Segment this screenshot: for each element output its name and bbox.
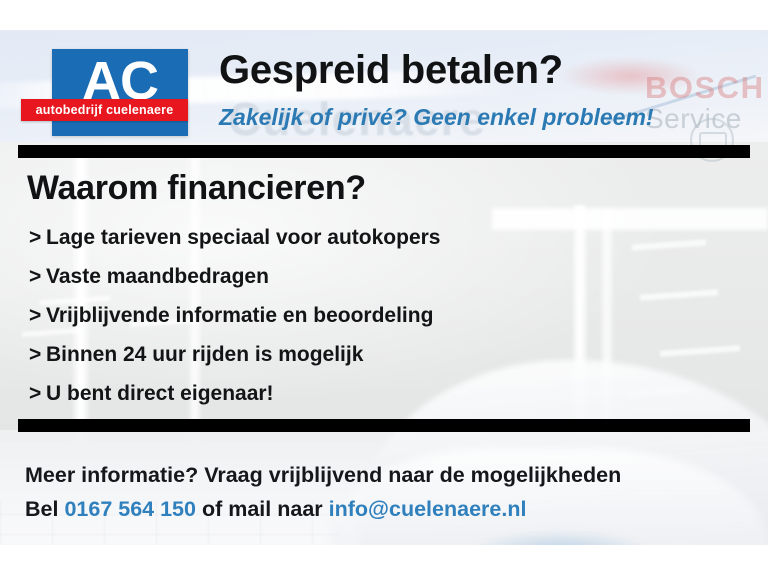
chevron-right-icon: > [29, 335, 46, 374]
chevron-right-icon: > [29, 218, 46, 257]
call-label: Bel [25, 497, 58, 521]
backdrop-ceiling-beam [492, 208, 768, 230]
frame-top-margin [0, 0, 768, 30]
divider-top [18, 145, 750, 158]
page-title: Gespreid betalen? [219, 47, 563, 93]
list-item-label: Vrijblijvende informatie en beoordeling [46, 304, 433, 327]
list-item-label: U bent direct eigenaar! [46, 382, 274, 405]
section-title-why-finance: Waarom financieren? [27, 168, 366, 208]
mail-label: of mail naar [202, 497, 323, 521]
backdrop-blue-glow [470, 530, 650, 545]
list-item-label: Lage tarieven speciaal voor autokopers [46, 226, 441, 249]
divider-bottom [18, 419, 750, 432]
ac-logo-tagline: autobedrijf cuelenaere [36, 103, 174, 117]
list-item: >Binnen 24 uur rijden is mogelijk [29, 335, 441, 374]
list-item-label: Binnen 24 uur rijden is mogelijk [46, 343, 363, 366]
list-item: >Vaste maandbedragen [29, 257, 441, 296]
ac-logo: AC autobedrijf cuelenaere [52, 49, 188, 136]
list-item: >Lage tarieven speciaal voor autokopers [29, 218, 441, 257]
ac-logo-tagline-band: autobedrijf cuelenaere [21, 99, 188, 121]
frame-bottom-margin [0, 545, 768, 576]
finance-promo-banner: Cuelenaere BOSCH Service AC autobedrijf … [0, 0, 768, 576]
contact-footer: Meer informatie? Vraag vrijblijvend naar… [25, 458, 745, 526]
email-address[interactable]: info@cuelenaere.nl [329, 497, 527, 521]
list-item: >U bent direct eigenaar! [29, 374, 441, 413]
backdrop-warm-glow [560, 58, 700, 94]
page-subtitle: Zakelijk of privé? Geen enkel probleem! [219, 103, 654, 131]
list-item-label: Vaste maandbedragen [46, 265, 269, 288]
benefit-list: >Lage tarieven speciaal voor autokopers … [29, 218, 441, 413]
phone-number[interactable]: 0167 564 150 [64, 497, 196, 521]
footer-contact-line: Bel 0167 564 150 of mail naar info@cuele… [25, 492, 745, 526]
chevron-right-icon: > [29, 374, 46, 413]
chevron-right-icon: > [29, 257, 46, 296]
chevron-right-icon: > [29, 296, 46, 335]
list-item: >Vrijblijvende informatie en beoordeling [29, 296, 441, 335]
footer-info-line: Meer informatie? Vraag vrijblijvend naar… [25, 458, 745, 492]
